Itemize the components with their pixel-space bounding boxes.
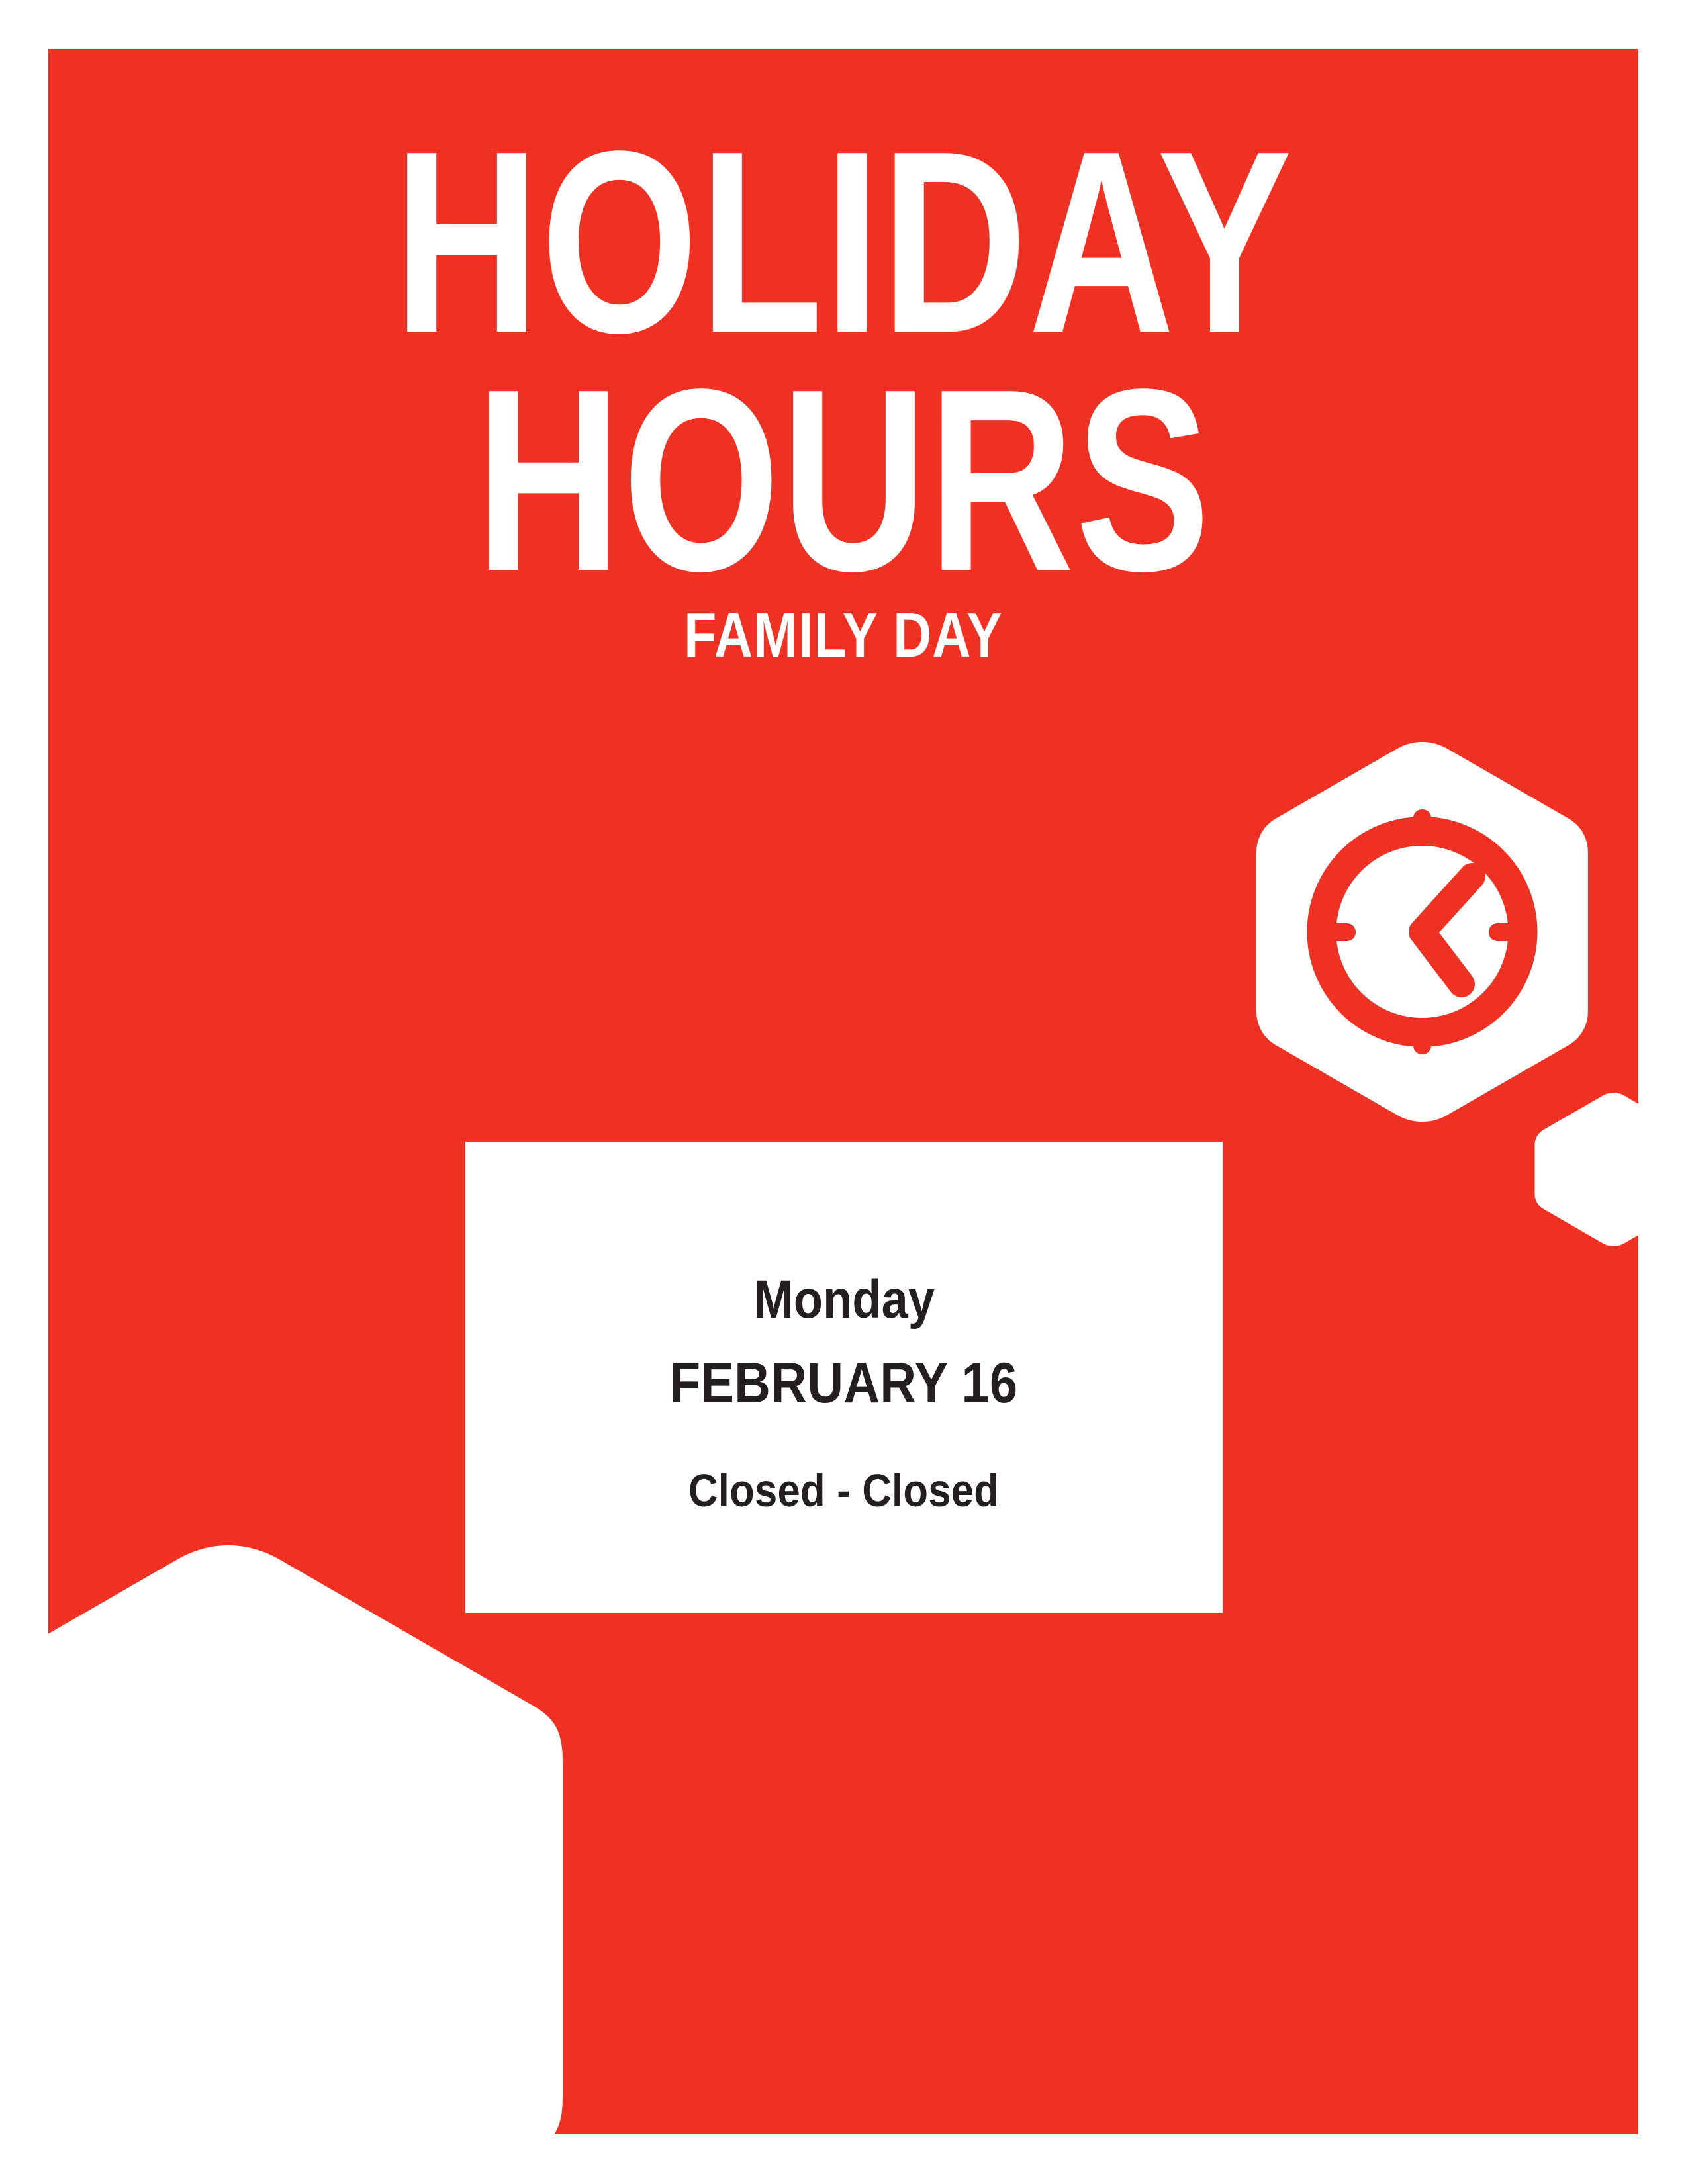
- hexagon-accent-large-icon: [48, 1539, 569, 2134]
- clock-hexagon-icon: [1252, 738, 1592, 1126]
- page-title-line-2: HOURS: [223, 351, 1464, 610]
- page-subtitle: FAMILY DAY: [175, 604, 1511, 667]
- schedule-day-label: Monday: [753, 1273, 934, 1327]
- schedule-hours-label: Closed - Closed: [688, 1467, 999, 1514]
- hexagon-accent-icon: [1532, 1091, 1638, 1248]
- red-background-panel: HOLIDAY HOURS FAMILY DAY: [48, 49, 1638, 2134]
- schedule-card: Monday FEBRUARY 16 Closed - Closed: [465, 1142, 1223, 1613]
- page-title-line-1: HOLIDAY: [223, 113, 1464, 372]
- holiday-hours-poster: HOLIDAY HOURS FAMILY DAY: [0, 0, 1688, 2184]
- schedule-date-label: FEBRUARY 16: [670, 1355, 1018, 1412]
